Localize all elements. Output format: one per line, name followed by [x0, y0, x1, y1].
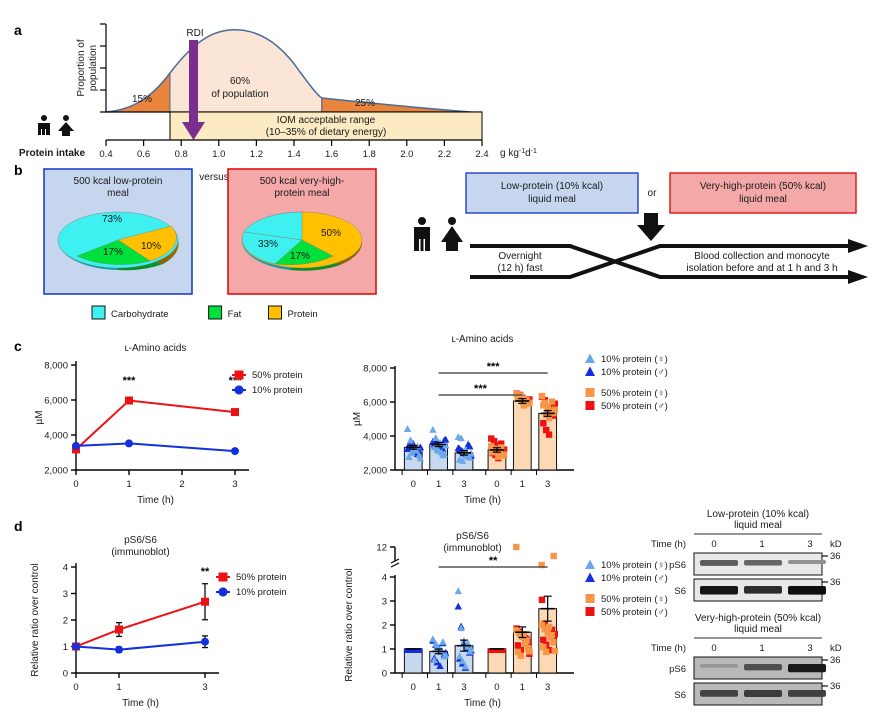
y-tick-label: 2 — [382, 621, 387, 632]
blot-time-label: Time (h) — [651, 643, 686, 654]
blot-band — [744, 560, 782, 566]
y-axis-label: µM — [34, 410, 45, 424]
chart-title: ʟ-Amino acids — [125, 343, 187, 354]
blot-time-tick: 1 — [759, 539, 764, 550]
low-protein-meal-title-line1: 500 kcal low-protein — [74, 176, 163, 187]
y-axis-label: Relative ratio over control — [344, 568, 355, 681]
data-point — [465, 440, 472, 447]
blot-title-line2: liquid meal — [734, 520, 782, 531]
pie-low-protein-label: 10% — [141, 241, 161, 252]
x-tick-label: 0 — [73, 682, 78, 693]
x-axis-label: Time (h) — [122, 698, 159, 709]
x-tick-label: 3 — [202, 682, 207, 693]
pie-low-carb-label: 73% — [102, 214, 122, 225]
lp-liquid-line2: liquid meal — [528, 194, 576, 205]
series-line — [76, 642, 205, 650]
data-point — [523, 637, 529, 643]
data-point — [495, 454, 501, 460]
blot-time-tick: 0 — [711, 539, 716, 550]
panel-a-xunits: g kg-1d-1 — [500, 148, 537, 159]
x-tick-label: 1 — [436, 682, 441, 693]
x-tick-label: 0 — [494, 682, 499, 693]
blot-kd-label: kD — [830, 643, 842, 654]
data-point — [546, 431, 552, 437]
blot-kd-value: 36 — [830, 577, 841, 588]
data-point — [235, 386, 244, 395]
y-tick-label: 2,000 — [363, 466, 387, 477]
legend-swatch-carbohydrate — [92, 306, 105, 319]
x-tick-label: 0 — [411, 682, 416, 693]
x-tick-label: 0 — [73, 479, 78, 490]
y-tick-label: 0 — [63, 669, 68, 680]
blood-collection-line1: Blood collection and monocyte — [694, 251, 830, 262]
blot-time-tick: 1 — [759, 643, 764, 654]
chart-title: ʟ-Amino acids — [452, 334, 514, 345]
overnight-fast-line2: (12 h) fast — [497, 263, 542, 274]
legend-label: 50% protein (♂) — [601, 607, 668, 618]
data-point — [72, 442, 80, 450]
x-tick-label: 1 — [116, 682, 121, 693]
panel-a-ylabel-line2: population — [88, 45, 99, 91]
panel-a-xtick-label: 1.4 — [287, 149, 300, 160]
data-point — [586, 594, 595, 603]
data-point — [549, 632, 555, 638]
blot-band — [700, 560, 738, 566]
immunoblot-very-high-protein: Very-high-protein (50% kcal)liquid mealT… — [651, 613, 842, 705]
data-point — [540, 402, 546, 408]
x-axis-label: Time (h) — [464, 698, 501, 709]
blood-collection-line2: isolation before and at 1 h and 3 h — [686, 263, 837, 274]
x-tick-label: 1 — [126, 479, 131, 490]
vhp-liquid-line1: Very-high-protein (50% kcal) — [700, 181, 826, 192]
data-point — [231, 408, 239, 416]
data-point — [585, 367, 595, 377]
significance-marker: *** — [123, 375, 137, 387]
legend-swatch-protein — [269, 306, 282, 319]
or-label: or — [648, 188, 658, 199]
data-point — [219, 588, 228, 597]
x-tick-label: 1 — [520, 479, 525, 490]
blot-row-label: pS6 — [669, 664, 686, 675]
y-tick-label: 4,000 — [44, 431, 68, 442]
people-icon — [38, 115, 74, 136]
blot-band — [700, 690, 738, 697]
pie-low-fat-label: 17% — [103, 247, 123, 258]
data-point — [518, 653, 524, 659]
data-point — [539, 597, 545, 603]
blot-kd-value: 36 — [830, 551, 841, 562]
blot-kd-label: kD — [830, 539, 842, 550]
vhp-meal-title-line2: protein meal — [274, 188, 329, 199]
panel-c-line-chart: ʟ-Amino acids2,0004,0006,0008,0000123Tim… — [34, 343, 303, 506]
segment-25-label: 25% — [355, 98, 375, 109]
significance-marker: *** — [474, 383, 488, 395]
data-point — [219, 573, 228, 582]
panel-d-line-chart: pS6/S6(immunoblot)01234013Time (h)Relati… — [30, 535, 287, 709]
significance-marker: *** — [487, 361, 501, 373]
meal-timepoint-arrow — [637, 213, 665, 241]
panel-a-xtick-label: 0.8 — [175, 149, 188, 160]
x-tick-label: 1 — [520, 682, 525, 693]
blot-band — [700, 664, 738, 668]
legend-label: 50% protein — [252, 370, 303, 381]
immunoblot-low-protein: Low-protein (10% kcal)liquid mealTime (h… — [651, 509, 842, 601]
y-axis-label: Relative ratio over control — [30, 563, 41, 676]
blot-band — [744, 586, 782, 594]
data-point — [546, 624, 552, 630]
legend-label-carbohydrate: Carbohydrate — [111, 309, 169, 320]
iom-acceptable-range-band: IOM acceptable range (10–35% of dietary … — [170, 112, 482, 140]
blot-title-line2: liquid meal — [734, 624, 782, 635]
data-point — [125, 397, 133, 405]
legend-label: 50% protein (♂) — [601, 401, 668, 412]
legend-label-protein: Protein — [288, 309, 318, 320]
blot-band — [788, 586, 826, 595]
blot-band — [700, 586, 738, 594]
y-tick-label: 4,000 — [363, 432, 387, 443]
blot-time-tick: 0 — [711, 643, 716, 654]
y-tick-label: 1 — [63, 642, 68, 653]
distribution-curve-fill — [106, 30, 470, 112]
legend-label: 10% protein — [252, 385, 303, 396]
legend-label: 50% protein — [236, 572, 287, 583]
data-point — [543, 649, 549, 655]
people-icon-flow — [414, 217, 463, 251]
x-tick-label: 2 — [179, 479, 184, 490]
panel-a-xtick-label: 1.2 — [250, 149, 263, 160]
series-line — [76, 401, 235, 450]
data-point — [201, 598, 209, 606]
data-point — [231, 447, 239, 455]
data-point — [585, 560, 595, 570]
bar — [513, 401, 531, 470]
y-tick-label: 8,000 — [44, 361, 68, 372]
blot-time-label: Time (h) — [651, 539, 686, 550]
y-axis-label: µM — [352, 412, 363, 426]
data-point — [201, 638, 209, 646]
panel-c: ʟ-Amino acids2,0004,0006,0008,0000123Tim… — [0, 330, 880, 505]
blot-row-label: S6 — [674, 586, 686, 597]
series-50-protein — [72, 584, 209, 651]
x-tick-label: 3 — [545, 479, 550, 490]
panel-a-xtick-label: 2.2 — [438, 149, 451, 160]
chart-legend: 10% protein (♀)10% protein (♂)50% protei… — [585, 560, 668, 619]
panel-a-xtick-label: 0.4 — [99, 149, 112, 160]
blot-title-line1: Very-high-protein (50% kcal) — [695, 613, 821, 624]
y-tick-label-upper: 12 — [376, 543, 387, 554]
data-point — [552, 648, 558, 654]
panel-a-y-axis: Proportion of population — [76, 24, 106, 112]
x-tick-label: 0 — [411, 479, 416, 490]
panel-a: Proportion of population IOM acceptable … — [0, 10, 600, 160]
chart-legend: 50% protein10% protein — [232, 370, 303, 396]
panel-d: pS6/S6(immunoblot)01234013Time (h)Relati… — [0, 505, 880, 721]
panel-b: 500 kcal low-protein meal 73% 17% 10% ve… — [0, 160, 880, 335]
x-tick-label: 1 — [436, 479, 441, 490]
data-point — [407, 437, 414, 444]
y-tick-label: 4 — [63, 563, 68, 574]
lp-liquid-line1: Low-protein (10% kcal) — [501, 181, 603, 192]
blot-band — [788, 664, 826, 672]
data-point — [550, 553, 556, 559]
overnight-fast-line1: Overnight — [498, 251, 542, 262]
blot-time-tick: 3 — [807, 539, 812, 550]
data-point — [585, 354, 595, 364]
vhp-liquid-line2: liquid meal — [739, 194, 787, 205]
y-tick-label: 8,000 — [363, 364, 387, 375]
data-point — [432, 434, 439, 441]
legend-label: 50% protein (♀) — [601, 594, 668, 605]
x-tick-label: 3 — [461, 682, 466, 693]
pie-vhp-carb-label: 33% — [258, 239, 278, 250]
chart-legend: 10% protein (♀)10% protein (♂)50% protei… — [585, 354, 668, 413]
legend-label: 10% protein (♀) — [601, 560, 668, 571]
panel-d-scatter-chart: pS6/S6(immunoblot)0123412013013**Time (h… — [344, 531, 668, 709]
data-point — [586, 401, 595, 410]
panel-c-scatter-chart: ʟ-Amino acids2,0004,0006,0008,000013013*… — [352, 334, 668, 506]
blot-kd-value: 36 — [830, 655, 841, 666]
y-tick-label: 2,000 — [44, 466, 68, 477]
versus-label: versus — [199, 172, 228, 183]
y-tick-label: 3 — [63, 589, 68, 600]
data-point — [404, 425, 411, 432]
panel-a-xtick-label: 1.8 — [363, 149, 376, 160]
data-point — [586, 607, 595, 616]
data-point — [125, 439, 133, 447]
pie-chart-very-high-protein: 33% 17% 50% — [242, 212, 362, 271]
blot-row-label: pS6 — [669, 560, 686, 571]
iom-band-line2: (10–35% of dietary energy) — [266, 127, 387, 138]
data-point — [72, 643, 80, 651]
series-10-protein — [72, 636, 209, 654]
segment-15-label: 15% — [132, 94, 152, 105]
y-tick-label: 6,000 — [363, 398, 387, 409]
x-tick-label: 3 — [461, 479, 466, 490]
x-tick-label: 3 — [232, 479, 237, 490]
blot-band — [788, 690, 826, 697]
legend-label: 10% protein (♂) — [601, 573, 668, 584]
data-point — [115, 646, 123, 654]
very-high-protein-liquid-meal-box: Very-high-protein (50% kcal) liquid meal — [670, 173, 856, 213]
legend-label: 10% protein (♂) — [601, 367, 668, 378]
rdi-label: RDI — [186, 28, 203, 39]
chart-title-line1: pS6/S6 — [456, 531, 489, 542]
panel-a-xlabel: Protein intake — [19, 148, 86, 159]
data-point — [539, 393, 545, 399]
blot-title-line1: Low-protein (10% kcal) — [707, 509, 809, 520]
y-tick-label: 2 — [63, 616, 68, 627]
significance-marker: ** — [201, 566, 210, 578]
data-point — [235, 371, 244, 380]
legend-swatch-fat — [209, 306, 222, 319]
data-point — [549, 398, 555, 404]
data-point — [585, 573, 595, 583]
very-high-protein-meal-box: 500 kcal very-high- protein meal 33% 17%… — [228, 169, 376, 294]
blot-band — [744, 690, 782, 697]
data-point — [429, 426, 436, 433]
data-point — [115, 626, 123, 634]
low-protein-liquid-meal-box: Low-protein (10% kcal) liquid meal — [466, 173, 638, 213]
chart-title-line2: (immunoblot) — [443, 543, 501, 554]
data-point — [439, 638, 446, 645]
significance-marker: ** — [489, 555, 498, 567]
panel-a-xtick-label: 0.6 — [137, 149, 150, 160]
y-tick-label: 3 — [382, 597, 387, 608]
panel-a-xtick-label: 2.0 — [400, 149, 413, 160]
chart-legend: 50% protein10% protein — [216, 572, 287, 598]
blot-time-tick: 3 — [807, 643, 812, 654]
data-point — [455, 603, 462, 610]
y-tick-label: 4 — [382, 573, 387, 584]
data-point — [501, 452, 507, 458]
series-10-protein — [72, 439, 239, 455]
series-line — [76, 602, 205, 647]
segment-60-label-line1: 60% — [230, 76, 250, 87]
data-point — [552, 406, 558, 412]
blot-band — [788, 560, 826, 564]
series-line — [76, 443, 235, 451]
vhp-meal-title-line1: 500 kcal very-high- — [260, 176, 344, 187]
blot-kd-value: 36 — [830, 681, 841, 692]
data-point — [540, 420, 546, 426]
data-point — [586, 388, 595, 397]
panel-a-xtick-label: 1.0 — [212, 149, 225, 160]
legend-label: 10% protein — [236, 587, 287, 598]
legend-label: 50% protein (♀) — [601, 388, 668, 399]
axis-break-mark — [391, 563, 399, 567]
pie-vhp-fat-label: 17% — [290, 251, 310, 262]
legend-label-fat: Fat — [228, 309, 242, 320]
data-point — [526, 648, 532, 654]
low-protein-meal-title-line2: meal — [107, 188, 129, 199]
data-point — [550, 639, 556, 645]
data-point — [455, 587, 462, 594]
blot-band — [744, 664, 782, 670]
arrow-head-bottom — [848, 270, 868, 284]
pie-vhp-protein-label: 50% — [321, 228, 341, 239]
chart-title-line2: (immunoblot) — [111, 547, 169, 558]
y-tick-label: 6,000 — [44, 396, 68, 407]
panel-a-xtick-label: 2.4 — [475, 149, 488, 160]
y-tick-label: 1 — [382, 645, 387, 656]
iom-band-line1: IOM acceptable range — [277, 115, 376, 126]
low-protein-meal-box: 500 kcal low-protein meal 73% 17% 10% — [44, 169, 192, 294]
arrow-head-top — [848, 239, 868, 253]
panel-a-xtick-label: 1.6 — [325, 149, 338, 160]
data-point — [513, 544, 519, 550]
macronutrient-legend: CarbohydrateFatProtein — [92, 306, 318, 320]
panel-a-x-axis: 0.40.60.81.01.21.41.61.82.02.22.4 Protei… — [19, 140, 537, 160]
y-tick-label: 0 — [382, 669, 387, 680]
x-tick-label: 3 — [545, 682, 550, 693]
panel-a-ylabel-line1: Proportion of — [76, 39, 87, 96]
segment-60-label-line2: of population — [211, 89, 268, 100]
x-tick-label: 0 — [494, 479, 499, 490]
blot-row-label: S6 — [674, 690, 686, 701]
chart-title-line1: pS6/S6 — [124, 535, 157, 546]
legend-label: 10% protein (♀) — [601, 354, 668, 365]
